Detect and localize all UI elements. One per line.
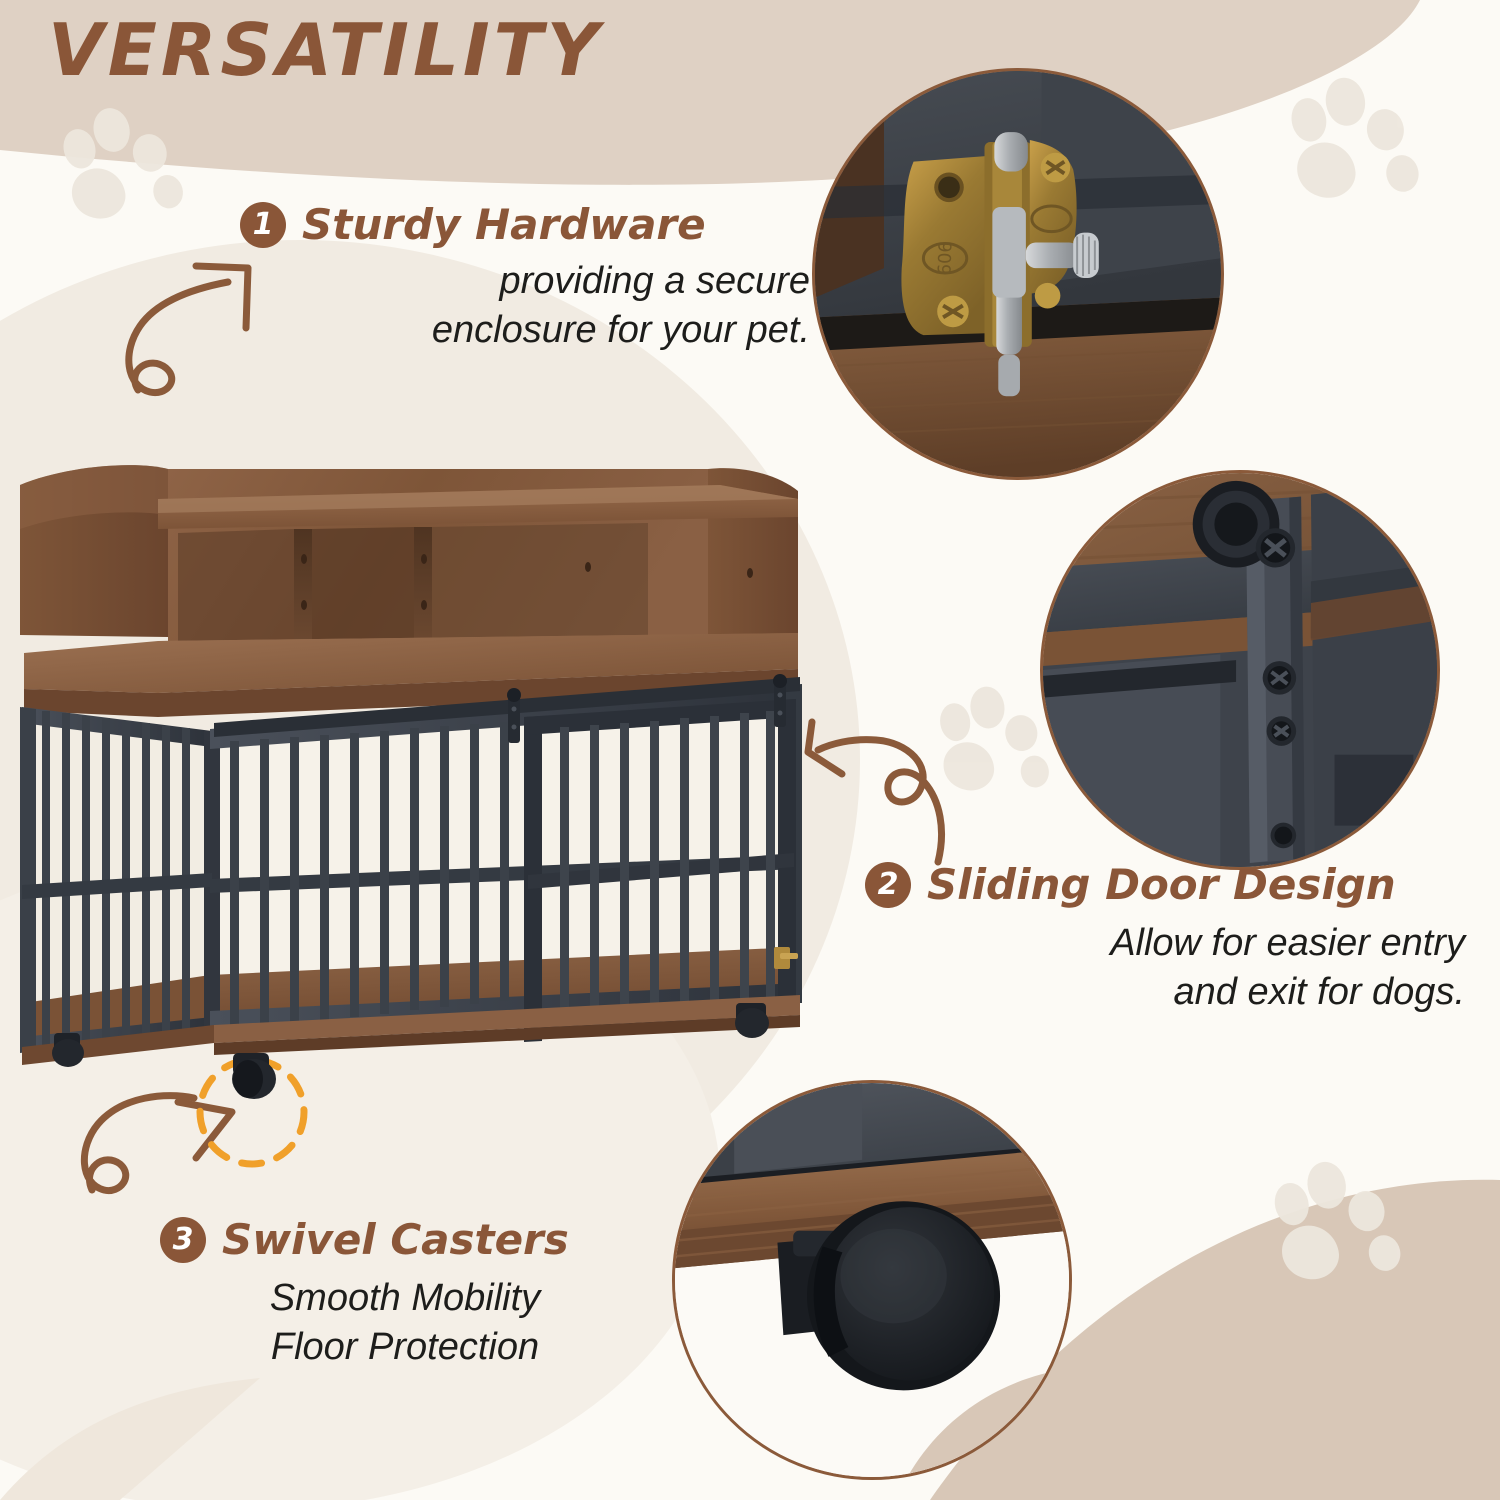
feature-3-title: Swivel Casters — [222, 1215, 569, 1264]
feature-1-title: Sturdy Hardware — [302, 200, 706, 249]
feature-2-number-badge: 2 — [865, 862, 911, 908]
feature-2-body-line-2: and exit for dogs. — [865, 968, 1465, 1017]
svg-text:606: 606 — [935, 241, 956, 276]
feature-3-body: Smooth Mobility Floor Protection — [160, 1274, 650, 1371]
hinge-latch-photo: 606 — [812, 68, 1224, 480]
feature-3-body-line-2: Floor Protection — [160, 1323, 650, 1372]
feature-block-3: 3 Swivel Casters Smooth Mobility Floor P… — [160, 1215, 650, 1371]
swivel-caster-photo — [672, 1080, 1072, 1480]
page-title: VERSATILITY — [48, 8, 603, 92]
feature-2-heading: 2 Sliding Door Design — [865, 860, 1465, 909]
feature-2-title: Sliding Door Design — [927, 860, 1396, 909]
feature-1-body-line-1: providing a secure — [240, 257, 810, 306]
feature-1-body: providing a secure enclosure for your pe… — [240, 257, 810, 354]
feature-2-body: Allow for easier entry and exit for dogs… — [865, 919, 1465, 1016]
feature-1-number-badge: 1 — [240, 202, 286, 248]
feature-3-body-line-1: Smooth Mobility — [160, 1274, 650, 1323]
sliding-door-roller-photo — [1040, 470, 1440, 870]
feature-1-body-line-2: enclosure for your pet. — [240, 306, 810, 355]
feature-2-body-line-1: Allow for easier entry — [865, 919, 1465, 968]
feature-3-heading: 3 Swivel Casters — [160, 1215, 650, 1264]
infographic-page: VERSATILITY — [0, 0, 1500, 1500]
product-image-dog-crate-furniture — [8, 455, 828, 1135]
feature-1-heading: 1 Sturdy Hardware — [240, 200, 810, 249]
feature-block-1: 1 Sturdy Hardware providing a secure enc… — [240, 200, 810, 354]
feature-3-number-badge: 3 — [160, 1217, 206, 1263]
feature-block-2: 2 Sliding Door Design Allow for easier e… — [865, 860, 1465, 1016]
